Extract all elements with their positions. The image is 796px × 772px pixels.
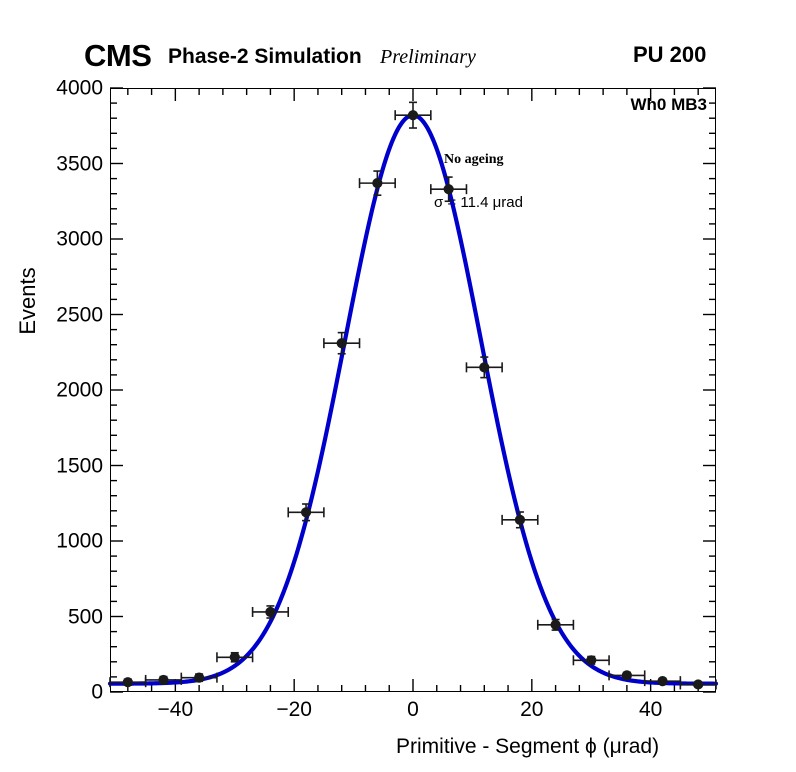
resolution-annotation: σ = 11.4 μrad [434, 194, 523, 211]
pileup-label: PU 200 [633, 44, 706, 66]
y-tick-label: 500 [68, 606, 103, 627]
y-tick-label: 4000 [56, 78, 103, 99]
plot-frame: Wh0 MB3 [110, 88, 716, 692]
plot-canvas: CMS Phase-2 Simulation Preliminary PU 20… [0, 0, 796, 772]
y-tick-label: 1500 [56, 455, 103, 476]
cms-preliminary-tag: Preliminary [380, 47, 476, 67]
y-tick-label: 3000 [56, 229, 103, 250]
x-tick-label: −20 [276, 699, 312, 720]
x-axis-title: Primitive - Segment ϕ (μrad) [396, 735, 659, 759]
x-tick-label: −40 [158, 699, 194, 720]
y-axis-tick-labels: 05001000150020002500300035004000 [0, 0, 103, 772]
x-tick-label: 20 [520, 699, 543, 720]
plot-header: CMS Phase-2 Simulation Preliminary PU 20… [0, 0, 796, 80]
x-tick-label: 40 [639, 699, 662, 720]
x-tick-label: 0 [407, 699, 419, 720]
y-tick-label: 2000 [56, 380, 103, 401]
ageing-annotation: No ageing [444, 152, 504, 168]
y-tick-label: 0 [91, 682, 103, 703]
chamber-label: Wh0 MB3 [631, 95, 708, 115]
y-tick-label: 1000 [56, 531, 103, 552]
y-tick-label: 2500 [56, 304, 103, 325]
cms-subtitle: Phase-2 Simulation [168, 46, 362, 67]
y-tick-label: 3500 [56, 153, 103, 174]
